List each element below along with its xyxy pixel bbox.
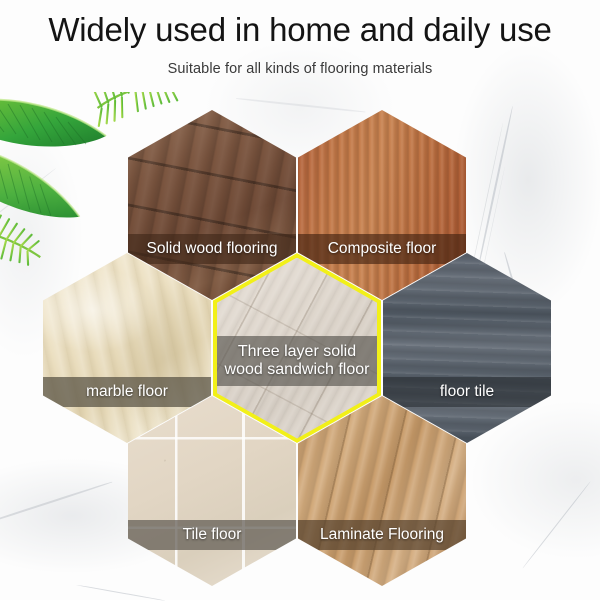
- hex-label-line2: wood sandwich floor: [225, 361, 370, 378]
- hex-label-marble-floor: marble floor: [43, 377, 211, 407]
- hex-label-three-layer-sandwich: Three layer solid wood sandwich floor: [217, 336, 377, 386]
- hex-label-composite-floor: Composite floor: [298, 234, 466, 264]
- header: Widely used in home and daily use Suitab…: [0, 0, 600, 77]
- flooring-type-grid: Solid wood flooring Composite floor marb…: [0, 0, 600, 600]
- page-subtitle: Suitable for all kinds of flooring mater…: [0, 48, 600, 77]
- hex-inner: Three layer solid wood sandwich floor: [217, 258, 377, 439]
- hex-label-laminate-flooring: Laminate Flooring: [298, 520, 466, 550]
- hex-label-tile-floor: Tile floor: [128, 520, 296, 550]
- hex-label-solid-wood: Solid wood flooring: [128, 234, 296, 264]
- hex-label-floor-tile: floor tile: [383, 377, 551, 407]
- page-title: Widely used in home and daily use: [0, 0, 600, 48]
- hex-label-line1: Three layer solid: [238, 343, 356, 360]
